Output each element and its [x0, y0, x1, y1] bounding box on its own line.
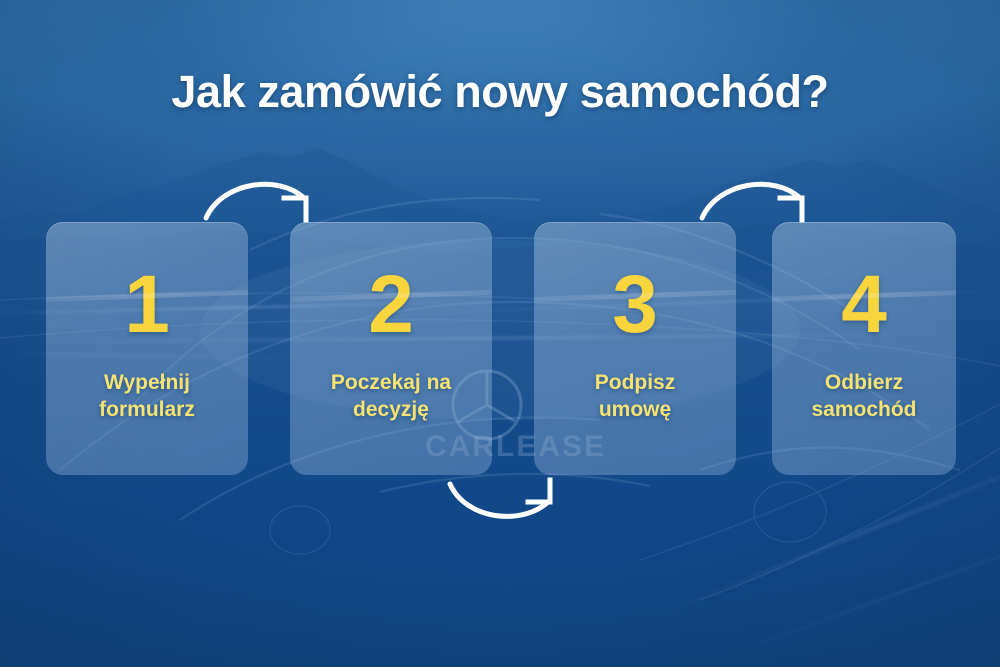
step-label-line2: formularz — [54, 397, 240, 424]
step-label-line1: Poczekaj na — [298, 370, 484, 397]
step-label-line2: decyzję — [298, 397, 484, 424]
step-number: 4 — [772, 264, 956, 346]
step-label-line1: Odbierz — [780, 370, 948, 397]
step-label-line2: samochód — [780, 397, 948, 424]
arrow-step2-to-step3 — [444, 472, 569, 528]
step-label: Poczekaj na decyzję — [298, 370, 484, 424]
step-label: Wypełnij formularz — [54, 370, 240, 424]
step-label-line2: umowę — [542, 397, 728, 424]
step-label: Odbierz samochód — [780, 370, 948, 424]
arrow-step3-to-step4 — [696, 172, 821, 228]
step-label-line1: Podpisz — [542, 370, 728, 397]
step-label-line1: Wypełnij — [54, 370, 240, 397]
page-title: Jak zamówić nowy samochód? — [0, 66, 1000, 118]
step-number: 1 — [46, 264, 248, 346]
step-label: Podpisz umowę — [542, 370, 728, 424]
step-card-1[interactable]: 1 Wypełnij formularz — [46, 222, 248, 475]
step-card-2[interactable]: 2 Poczekaj na decyzję — [290, 222, 492, 475]
step-card-4[interactable]: 4 Odbierz samochód — [772, 222, 956, 475]
infographic-canvas: CARLEASE Jak zamówić nowy samochód? 1 Wy… — [0, 0, 1000, 667]
step-number: 2 — [290, 264, 492, 346]
step-card-3[interactable]: 3 Podpisz umowę — [534, 222, 736, 475]
arrow-step1-to-step2 — [200, 172, 325, 228]
step-number: 3 — [534, 264, 736, 346]
